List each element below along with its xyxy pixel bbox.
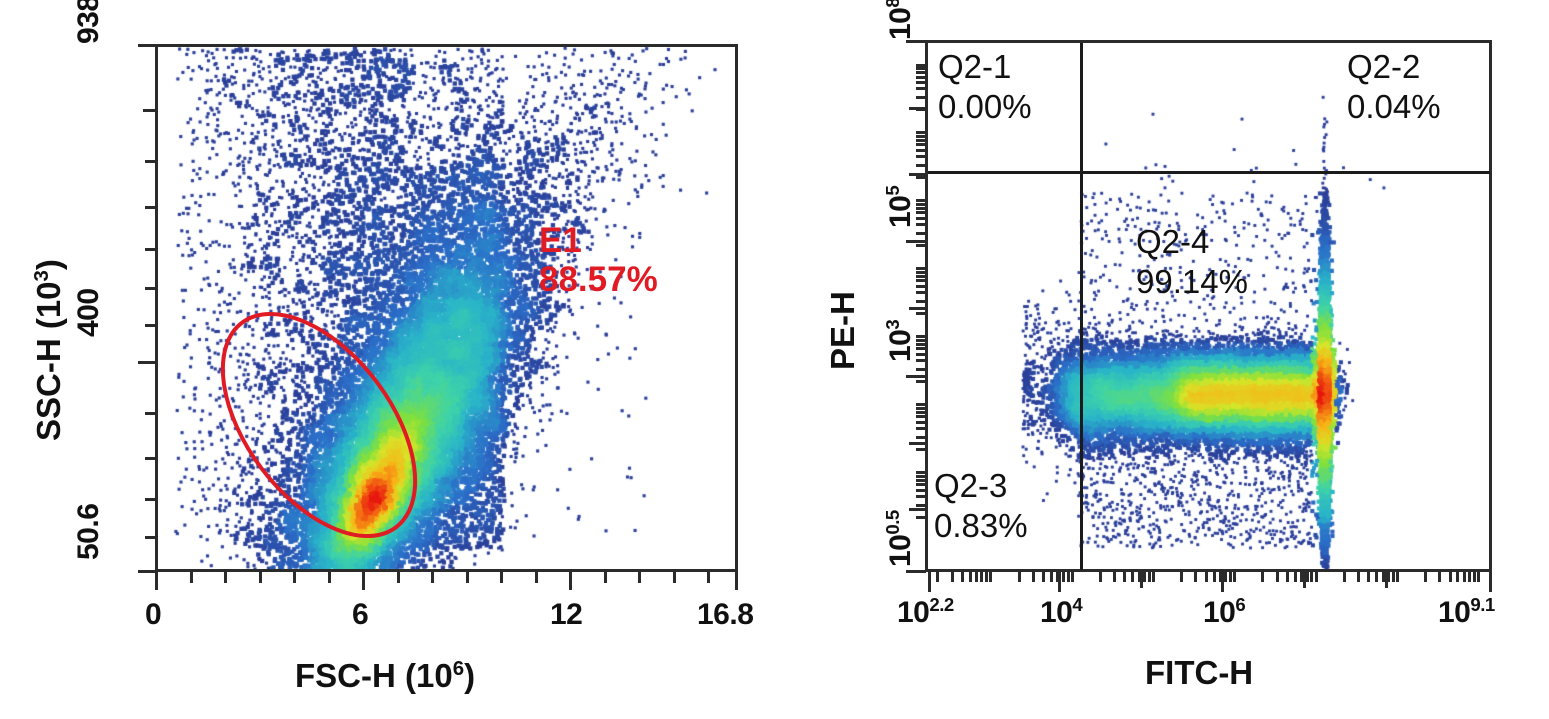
ytick-minor — [145, 287, 156, 290]
ytick-minor — [145, 498, 156, 501]
ytick-mid — [909, 442, 926, 445]
ytick-log-minor — [916, 380, 926, 383]
xtick-log-minor — [1123, 572, 1126, 582]
ytick-exp: 0.5 — [882, 510, 903, 534]
xtick-log-minor — [1032, 572, 1035, 582]
ytick-log-minor — [916, 76, 926, 79]
ytick-major — [906, 570, 926, 573]
xtick-label-2: 106 — [1203, 596, 1245, 630]
xtick-log-minor — [1067, 572, 1070, 582]
ytick-minor — [143, 109, 156, 112]
ytick-log-minor — [916, 139, 926, 142]
ytick-log-minor — [916, 483, 926, 486]
xtick-log-minor — [975, 572, 978, 582]
quadrant-label-q2-3: Q2-3 0.83% — [934, 466, 1028, 545]
xtick-log-minor — [1315, 572, 1318, 582]
xtick-log-minor — [980, 572, 983, 582]
xtick-log-minor — [1071, 572, 1074, 582]
xtick-log-minor — [1050, 572, 1053, 582]
ytick-log-minor — [916, 479, 926, 482]
ytick-log-minor — [916, 300, 926, 303]
xtick-label-1: 104 — [1040, 596, 1082, 630]
xtick-log-minor — [1463, 572, 1466, 582]
xtick-log-minor — [1382, 572, 1385, 582]
xtick-log-minor — [951, 572, 954, 582]
gate-name: E1 — [539, 221, 658, 260]
ytick-log-minor — [916, 131, 926, 134]
ytick-log-minor — [916, 312, 926, 315]
quadrant-label-q2-4: Q2-4 99.14% — [1136, 222, 1248, 301]
ytick-mid — [909, 307, 926, 310]
xtick-log-minor — [1343, 572, 1346, 582]
xtick-log-minor — [989, 572, 992, 582]
xtick-label-3: 16.8 — [697, 598, 753, 632]
x-title-base: FSC-H (10 — [295, 657, 453, 694]
ytick-base: 10 — [884, 8, 917, 40]
ytick-log-minor — [916, 407, 926, 410]
xtick-major — [569, 572, 572, 590]
xtick-log-minor — [1367, 572, 1370, 582]
ytick-major — [906, 40, 926, 43]
ytick-exp: 3 — [882, 320, 903, 330]
ytick-minor — [145, 160, 156, 163]
q2-2-value: 0.04% — [1347, 87, 1441, 127]
q2-3-value: 0.83% — [934, 506, 1028, 546]
xtick-log-minor — [1294, 572, 1297, 582]
xtick-log-minor — [1306, 572, 1309, 582]
q2-2-name: Q2-2 — [1347, 47, 1441, 87]
xtick-log-minor — [1449, 572, 1452, 582]
xtick-log-minor — [1224, 572, 1227, 582]
ytick-label-1: 105 — [884, 186, 918, 228]
xtick-log-minor — [1194, 572, 1197, 582]
xtick-log-minor — [1233, 572, 1236, 582]
ytick-log-minor — [916, 471, 926, 474]
xtick-log-minor — [1056, 572, 1059, 582]
ytick-major — [906, 240, 926, 243]
xtick-log-minor — [1375, 572, 1378, 582]
ytick-minor — [145, 248, 156, 251]
y-title-close: ) — [30, 259, 67, 270]
ytick-label-2: 50.6 — [72, 504, 106, 560]
xtick-log-minor — [1456, 572, 1459, 582]
q2-1-value: 0.00% — [938, 87, 1032, 127]
xtick-log-minor — [1143, 572, 1146, 582]
xtick-exp: 9.1 — [1470, 594, 1494, 615]
xtick-log-minor — [1468, 572, 1471, 582]
xtick-label-0: 102.2 — [897, 596, 954, 630]
xtick-log-minor — [1300, 572, 1303, 582]
xtick-log-minor — [1473, 572, 1476, 582]
xtick-minor — [431, 572, 434, 583]
q2-4-name: Q2-4 — [1136, 222, 1248, 262]
xtick-log-minor — [1424, 572, 1427, 582]
ytick-major — [138, 361, 156, 364]
quadrant-label-q2-2: Q2-2 0.04% — [1347, 47, 1441, 126]
ytick-log-minor — [916, 87, 926, 90]
xtick-log-minor — [1062, 572, 1065, 582]
xtick-base: 10 — [897, 596, 929, 629]
ytick-label-0: 938.9 — [72, 0, 106, 44]
ytick-log-minor — [916, 244, 926, 247]
xtick-log-minor — [1286, 572, 1289, 582]
xtick-label-1: 6 — [352, 598, 368, 632]
xtick-minor — [224, 572, 227, 583]
ytick-log-minor — [916, 427, 926, 430]
xtick-log-minor — [1148, 572, 1151, 582]
ytick-log-minor — [916, 67, 926, 70]
x-title-exp: 6 — [453, 657, 464, 680]
ytick-log-minor — [916, 271, 926, 274]
xtick-log-minor — [1396, 572, 1399, 582]
ytick-log-minor — [916, 164, 926, 167]
xtick-log-minor — [1357, 572, 1360, 582]
quadrant-horizontal-divider[interactable] — [928, 171, 1490, 174]
xtick-minor — [500, 572, 503, 583]
ytick-base: 10 — [884, 196, 917, 228]
quadrant-vertical-divider[interactable] — [1080, 43, 1083, 570]
xtick-base: 10 — [1203, 596, 1235, 629]
ytick-log-minor — [916, 495, 926, 498]
ytick-log-minor — [916, 81, 926, 84]
ytick-log-minor — [916, 415, 926, 418]
y-title-base: SSC-H (10 — [30, 281, 67, 441]
xtick-minor — [397, 572, 400, 583]
ytick-log-minor — [916, 96, 926, 99]
ytick-major — [906, 375, 926, 378]
xtick-major — [1489, 572, 1492, 592]
ytick-log-minor — [916, 71, 926, 74]
xtick-major — [735, 572, 738, 590]
ytick-label-1: 400 — [72, 288, 106, 337]
ytick-base: 10 — [884, 330, 917, 362]
ytick-minor — [145, 206, 156, 209]
ytick-log-minor — [916, 285, 926, 288]
ytick-log-minor — [916, 279, 926, 282]
xtick-major — [155, 572, 158, 590]
xtick-minor — [638, 572, 641, 583]
ytick-minor — [145, 324, 156, 327]
xtick-exp: 4 — [1072, 594, 1082, 615]
q2-1-name: Q2-1 — [938, 47, 1032, 87]
ytick-log-minor — [916, 475, 926, 478]
xtick-major — [928, 572, 931, 592]
ytick-label-3: 100.5 — [884, 510, 918, 567]
xtick-log-minor — [1113, 572, 1116, 582]
xtick-minor — [293, 572, 296, 583]
ytick-exp: 5 — [882, 186, 903, 196]
xtick-log-minor — [1205, 572, 1208, 582]
xtick-log-minor — [1392, 572, 1395, 582]
ytick-log-minor — [916, 504, 926, 507]
ytick-log-minor — [916, 155, 926, 158]
ytick-log-minor — [916, 489, 926, 492]
xtick-label-2: 12 — [550, 598, 582, 632]
ytick-log-minor — [916, 368, 926, 371]
xtick-log-minor — [1152, 572, 1155, 582]
xtick-exp: 6 — [1235, 594, 1245, 615]
xtick-minor — [190, 572, 193, 583]
ytick-minor — [145, 457, 156, 460]
xtick-minor — [707, 572, 710, 583]
ytick-base: 10 — [884, 535, 917, 567]
xtick-minor — [673, 572, 676, 583]
xtick-log-minor — [1131, 572, 1134, 582]
figure-root: E1 88.57% 938.9 400 50.6 SSC-H (103) 0 6… — [0, 0, 1549, 719]
xtick-log-minor — [1219, 572, 1222, 582]
xtick-log-minor — [1387, 572, 1390, 582]
ytick-log-minor — [916, 135, 926, 138]
xtick-log-minor — [1477, 572, 1480, 582]
right-y-axis-title: PE-H — [824, 291, 862, 370]
ytick-major — [138, 570, 156, 573]
left-y-axis-title: SSC-H (103) — [30, 259, 68, 441]
ytick-exp: 8.3 — [882, 0, 903, 8]
xtick-minor — [466, 572, 469, 583]
ytick-log-minor — [916, 436, 926, 439]
ytick-log-minor — [916, 64, 926, 67]
xtick-log-minor — [1261, 572, 1264, 582]
xtick-label-0: 0 — [145, 598, 161, 632]
ytick-log-minor — [916, 291, 926, 294]
xtick-exp: 2.2 — [929, 594, 953, 615]
ytick-log-minor — [916, 176, 926, 179]
gate-percent: 88.57% — [539, 260, 658, 299]
ytick-log-minor — [916, 411, 926, 414]
ytick-log-minor — [916, 275, 926, 278]
xtick-log-minor — [985, 572, 988, 582]
ytick-log-minor — [916, 232, 926, 235]
ytick-log-minor — [916, 149, 926, 152]
xtick-log-minor — [969, 572, 972, 582]
xtick-log-minor — [1213, 572, 1216, 582]
ytick-minor — [145, 412, 156, 415]
xtick-base: 10 — [1438, 596, 1470, 629]
xtick-log-minor — [1229, 572, 1232, 582]
xtick-minor — [259, 572, 262, 583]
xtick-label-3: 109.1 — [1438, 596, 1495, 630]
left-x-axis-title: FSC-H (106) — [295, 657, 475, 695]
xtick-log-minor — [1018, 572, 1021, 582]
ytick-log-minor — [916, 448, 926, 451]
xtick-log-minor — [1180, 572, 1183, 582]
xtick-minor — [604, 572, 607, 583]
xtick-log-minor — [1310, 572, 1313, 582]
xtick-log-minor — [1099, 572, 1102, 582]
ytick-log-minor — [916, 267, 926, 270]
y-title-exp: 3 — [30, 270, 53, 281]
ytick-minor — [145, 536, 156, 539]
q2-3-name: Q2-3 — [934, 466, 1028, 506]
ytick-label-2: 103 — [884, 320, 918, 362]
quadrant-label-q2-1: Q2-1 0.00% — [938, 47, 1032, 126]
xtick-minor — [535, 572, 538, 583]
left-scatter-canvas — [158, 47, 735, 569]
ytick-label-0: 108.3 — [884, 0, 918, 40]
right-x-axis-title: FITC-H — [1145, 654, 1253, 692]
gate-label-e1: E1 88.57% — [539, 221, 658, 299]
ytick-log-minor — [916, 403, 926, 406]
ytick-log-minor — [916, 143, 926, 146]
x-title-close: ) — [464, 657, 475, 694]
q2-4-value: 99.14% — [1136, 262, 1248, 302]
xtick-major — [362, 572, 365, 590]
xtick-log-minor — [1276, 572, 1279, 582]
xtick-log-minor — [1042, 572, 1045, 582]
xtick-log-minor — [1138, 572, 1141, 582]
ytick-log-minor — [916, 421, 926, 424]
xtick-log-minor — [961, 572, 964, 582]
xtick-base: 10 — [1040, 596, 1072, 629]
xtick-log-minor — [1438, 572, 1441, 582]
xtick-minor — [328, 572, 331, 583]
ytick-major — [138, 44, 156, 47]
xtick-log-minor — [936, 572, 939, 582]
ytick-log-minor — [916, 108, 926, 111]
